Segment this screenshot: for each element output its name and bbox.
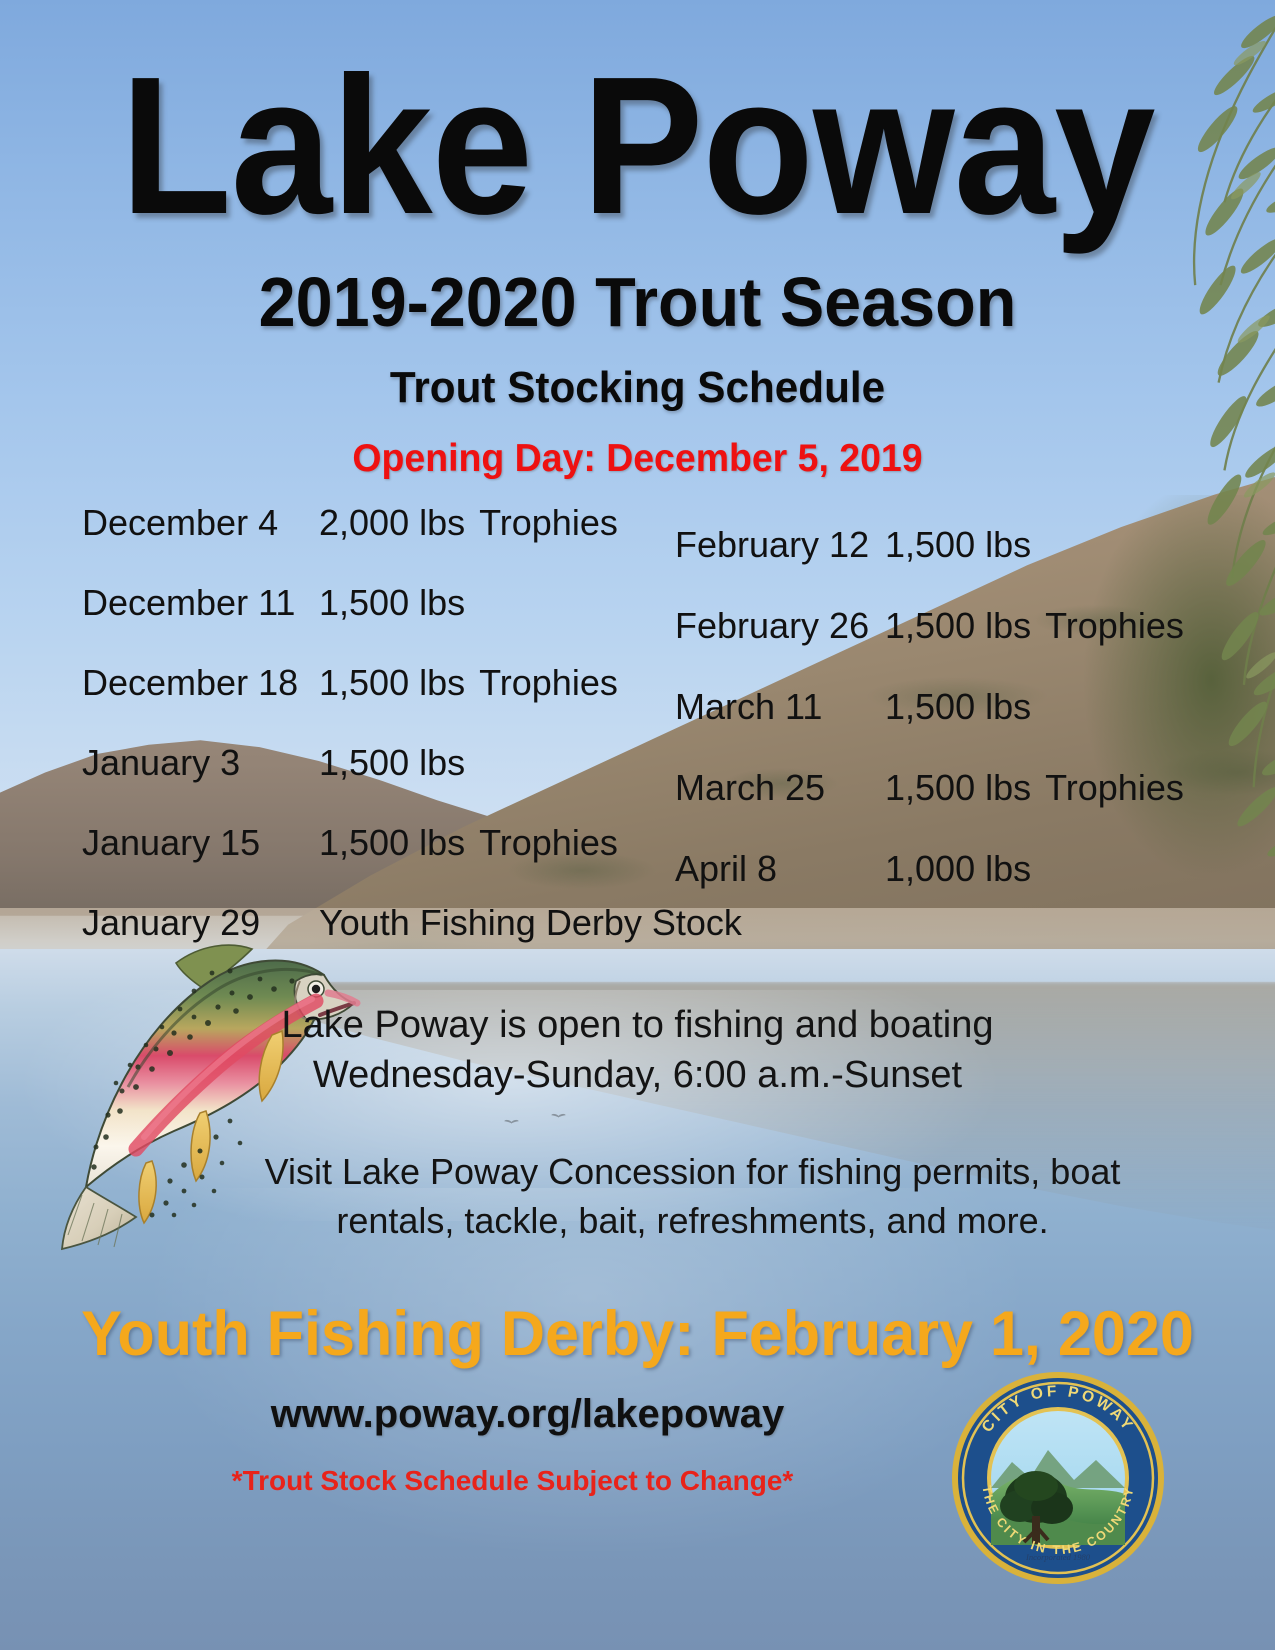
- hours-paragraph: Lake Poway is open to fishing and boatin…: [0, 1000, 1275, 1100]
- schedule-date: March 25: [675, 770, 885, 806]
- schedule-date: December 18: [82, 665, 319, 701]
- opening-day-text: Opening Day: December 5, 2019: [26, 437, 1250, 481]
- schedule-date: January 3: [82, 745, 319, 781]
- seal-incorporated-text: Incorporated 1980: [1025, 1552, 1091, 1562]
- hours-line-1: Lake Poway is open to fishing and boatin…: [0, 1000, 1275, 1050]
- schedule-row: January 3 1,500 lbs: [82, 745, 756, 781]
- stocking-schedule: December 4 2,000 lbs Trophies December 1…: [0, 505, 1275, 905]
- schedule-amount: 1,500 lbs: [319, 825, 465, 861]
- schedule-note: Trophies: [479, 665, 618, 701]
- schedule-note: Trophies: [479, 825, 618, 861]
- schedule-row: December 18 1,500 lbs Trophies: [82, 665, 756, 701]
- schedule-note: Trophies: [479, 505, 618, 541]
- city-of-poway-seal: CITY OF POWAY THE CITY IN THE COUNTRY In…: [950, 1370, 1166, 1586]
- schedule-date: February 12: [675, 527, 885, 563]
- schedule-note: Trophies: [1045, 770, 1184, 806]
- schedule-amount: 1,500 lbs: [319, 745, 465, 781]
- schedule-date: December 11: [82, 585, 319, 621]
- schedule-row: December 11 1,500 lbs: [82, 585, 756, 621]
- schedule-row: December 4 2,000 lbs Trophies: [82, 505, 756, 541]
- schedule-date: February 26: [675, 608, 885, 644]
- schedule-note: Trophies: [1045, 608, 1184, 644]
- schedule-date: January 15: [82, 825, 319, 861]
- schedule-amount: 1,000 lbs: [885, 851, 1031, 887]
- schedule-row: February 12 1,500 lbs: [675, 527, 1184, 563]
- schedule-date: March 11: [675, 689, 885, 725]
- schedule-amount: 1,500 lbs: [319, 665, 465, 701]
- schedule-column-right: February 12 1,500 lbs February 26 1,500 …: [675, 527, 1184, 932]
- schedule-amount: 1,500 lbs: [885, 689, 1031, 725]
- bird-icon: [505, 1116, 519, 1126]
- schedule-amount: 1,500 lbs: [885, 527, 1031, 563]
- disclaimer-text: *Trout Stock Schedule Subject to Change*: [0, 1465, 1025, 1497]
- website-url[interactable]: www.poway.org/lakepoway: [0, 1392, 1055, 1437]
- poster-title: Lake Poway: [45, 52, 1231, 240]
- schedule-date: December 4: [82, 505, 319, 541]
- poster-subtitle: 2019-2020 Trout Season: [32, 262, 1243, 342]
- schedule-amount: 1,500 lbs: [885, 608, 1031, 644]
- schedule-row: March 25 1,500 lbs Trophies: [675, 770, 1184, 806]
- schedule-amount: 1,500 lbs: [319, 585, 465, 621]
- schedule-row: March 11 1,500 lbs: [675, 689, 1184, 725]
- schedule-row: April 8 1,000 lbs: [675, 851, 1184, 887]
- schedule-amount: 1,500 lbs: [885, 770, 1031, 806]
- schedule-row: January 15 1,500 lbs Trophies: [82, 825, 756, 861]
- trout-season-poster: Lake Poway 2019-2020 Trout Season Trout …: [0, 0, 1275, 1650]
- schedule-row: February 26 1,500 lbs Trophies: [675, 608, 1184, 644]
- schedule-amount: 2,000 lbs: [319, 505, 465, 541]
- schedule-date: April 8: [675, 851, 885, 887]
- concession-line-2: rentals, tackle, bait, refreshments, and…: [230, 1197, 1155, 1246]
- schedule-column-left: December 4 2,000 lbs Trophies December 1…: [82, 505, 756, 985]
- bird-icon: [552, 1110, 566, 1120]
- youth-derby-banner: Youth Fishing Derby: February 1, 2020: [19, 1298, 1256, 1370]
- poster-subtitle-secondary: Trout Stocking Schedule: [26, 363, 1250, 413]
- concession-line-1: Visit Lake Poway Concession for fishing …: [230, 1148, 1155, 1197]
- hours-line-2: Wednesday-Sunday, 6:00 a.m.-Sunset: [0, 1050, 1275, 1100]
- concession-paragraph: Visit Lake Poway Concession for fishing …: [230, 1148, 1155, 1246]
